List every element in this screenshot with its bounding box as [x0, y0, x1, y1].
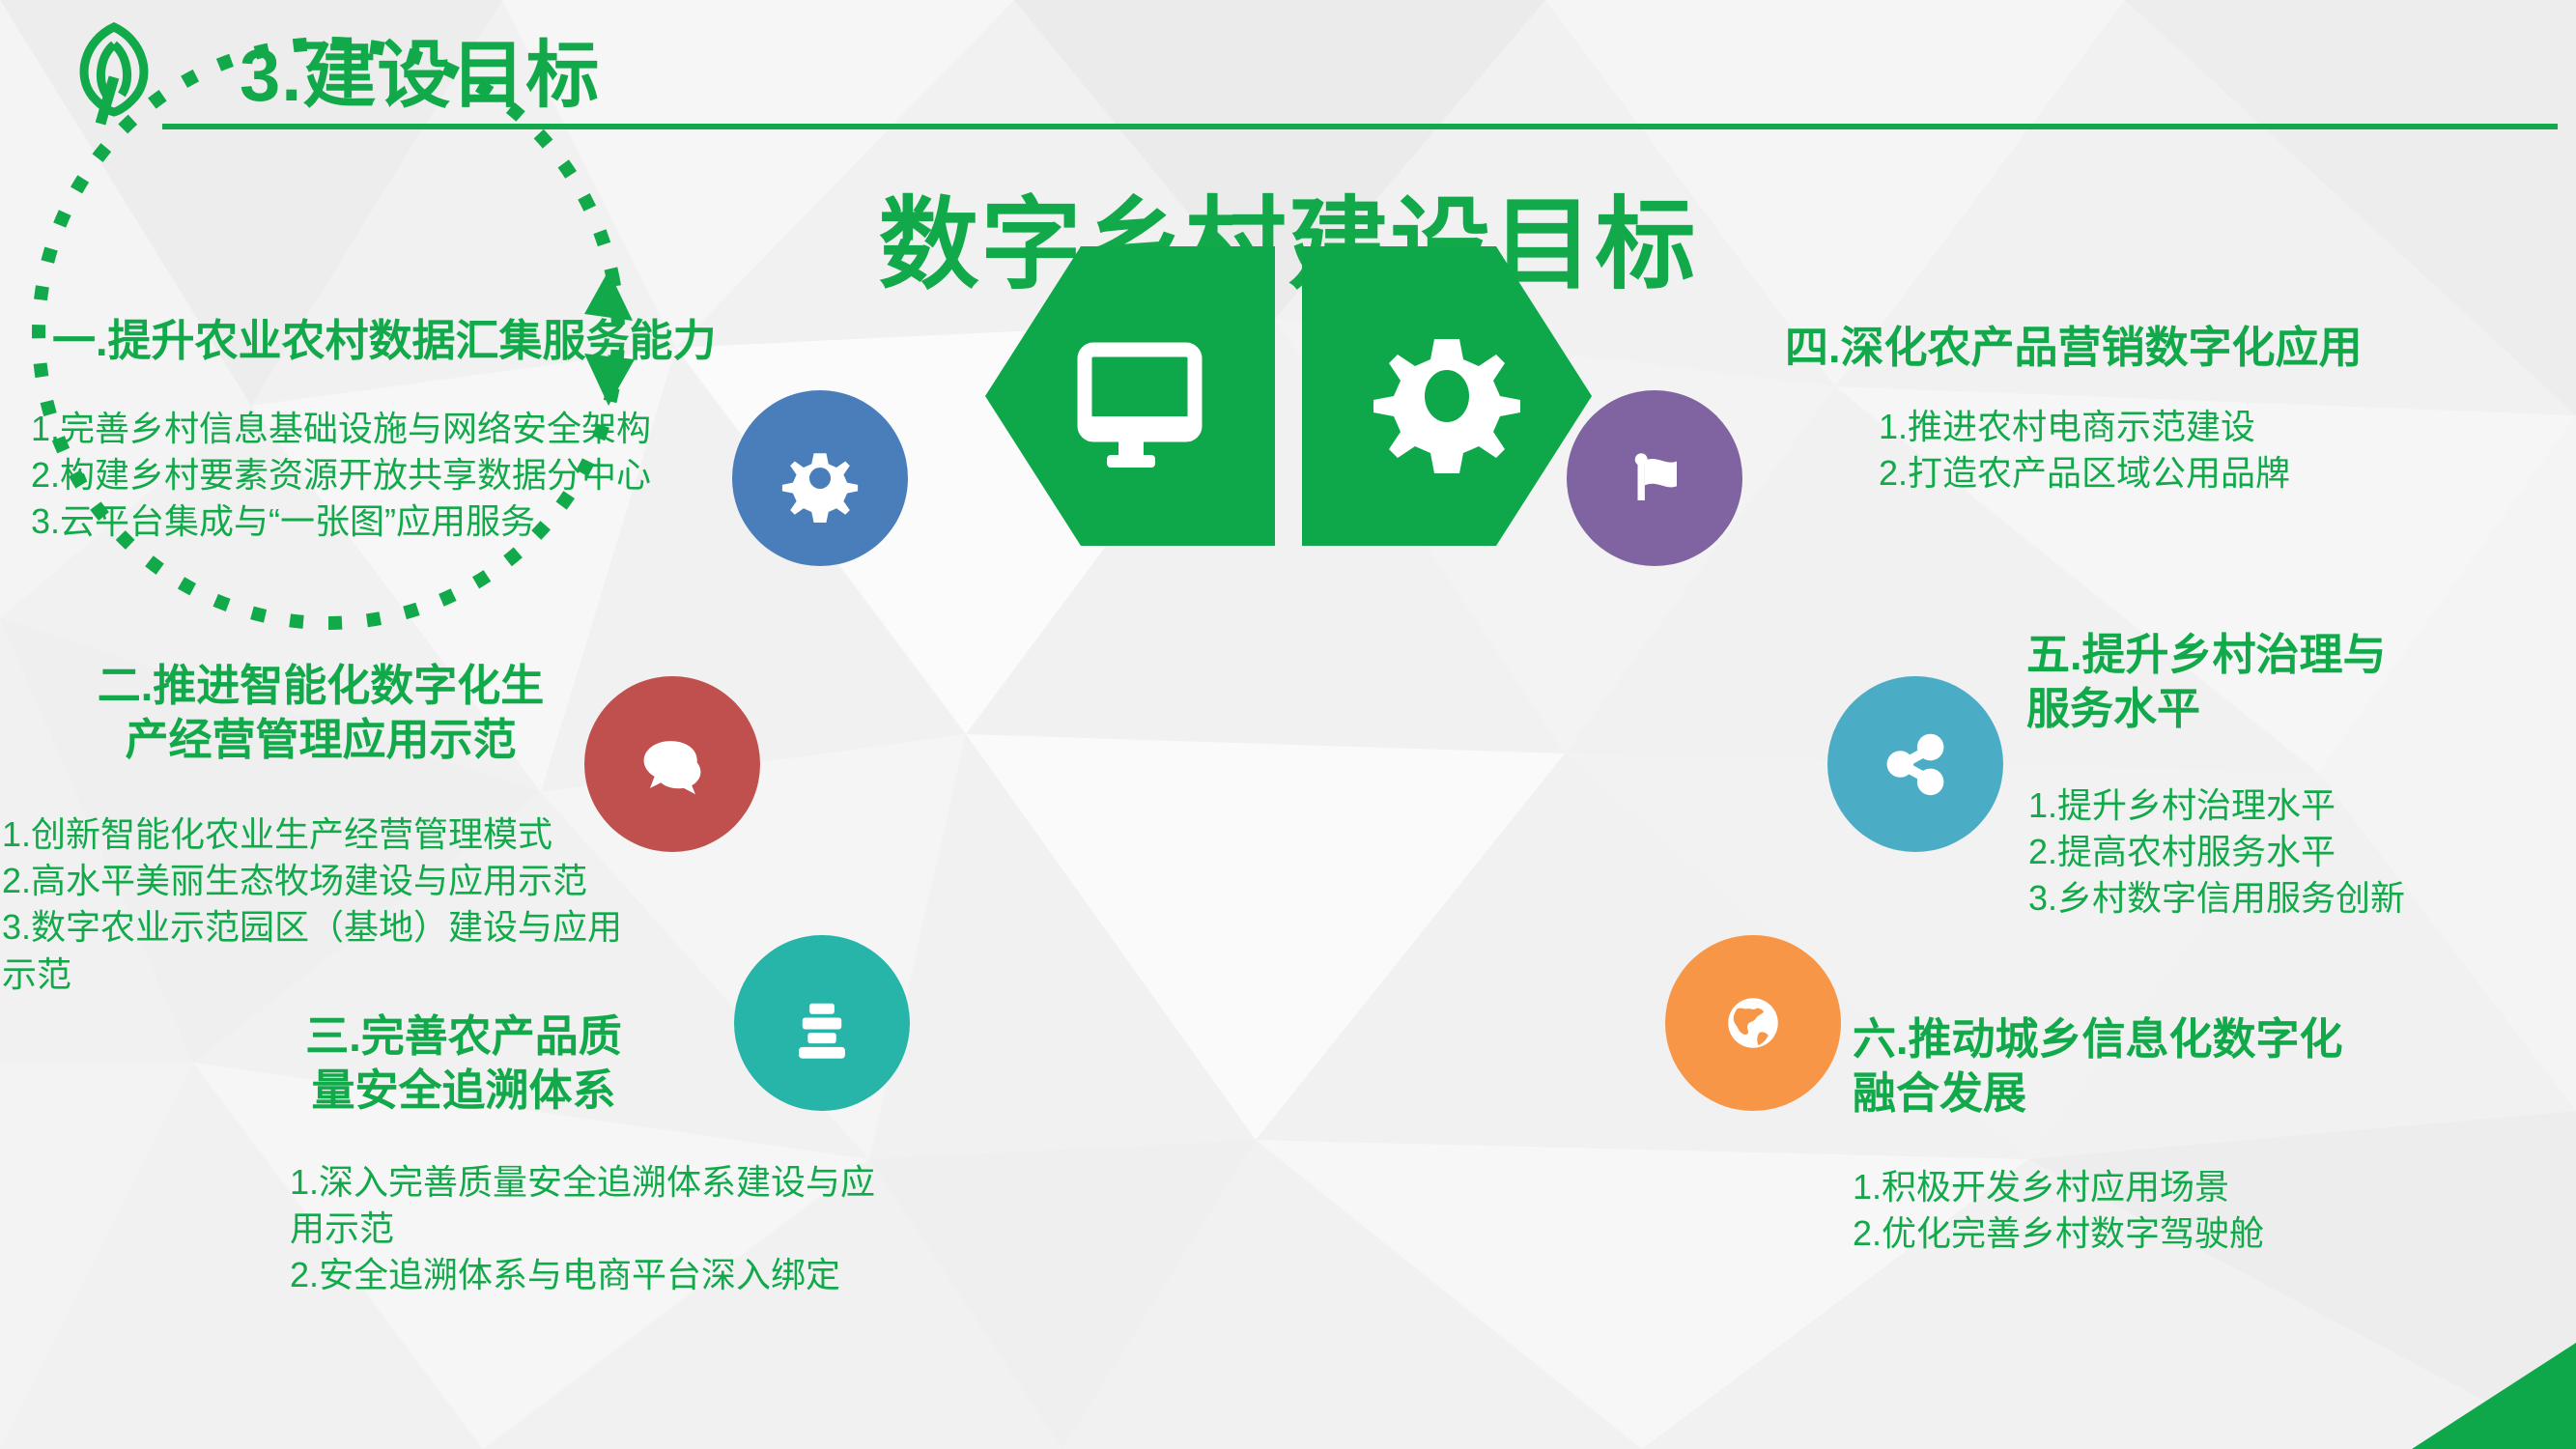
node-circle-five[interactable] — [1827, 676, 2003, 852]
align-center-icon — [778, 979, 866, 1067]
list-item: 2.构建乡村要素资源开放共享数据分中心 — [31, 452, 651, 498]
node-circle-four[interactable] — [1567, 390, 1742, 566]
list-item: 1.积极开发乡村应用场景 — [1853, 1164, 2264, 1210]
section-six-list: 1.积极开发乡村应用场景 2.优化完善乡村数字驾驶舱 — [1853, 1164, 2264, 1257]
share-icon — [1871, 720, 1960, 809]
section-three-title: 三.完善农产品质 量安全追溯体系 — [222, 1009, 705, 1118]
section-two-list: 1.创新智能化农业生产经营管理模式 2.高水平美丽生态牧场建设与应用示范 3.数… — [2, 811, 659, 998]
section-five-list: 1.提升乡村治理水平 2.提高农村服务水平 3.乡村数字信用服务创新 — [2028, 782, 2405, 923]
list-item: 3.数字农业示范园区（基地）建设与应用示范 — [2, 904, 639, 997]
section-one-title: 一.提升农业农村数据汇集服务能力 — [52, 314, 717, 368]
list-item: 2.打造农产品区域公用品牌 — [1879, 450, 2290, 497]
section-five-title: 五.提升乡村治理与 服务水平 — [2026, 628, 2387, 736]
list-item: 1.创新智能化农业生产经营管理模式 — [2, 811, 659, 858]
list-item: 2.高水平美丽生态牧场建设与应用示范 — [2, 858, 659, 904]
list-item: 1.完善乡村信息基础设施与网络安全架构 — [31, 406, 651, 452]
node-circle-three[interactable] — [734, 935, 910, 1111]
list-item: 3.乡村数字信用服务创新 — [2028, 875, 2405, 922]
section-four-list: 1.推进农村电商示范建设 2.打造农产品区域公用品牌 — [1879, 404, 2290, 497]
list-item: 1.推进农村电商示范建设 — [1879, 404, 2290, 450]
section-four-title: 四.深化农产品营销数字化应用 — [1785, 321, 2363, 375]
list-item: 2.安全追溯体系与电商平台深入绑定 — [290, 1252, 898, 1298]
list-item: 1.深入完善质量安全追溯体系建设与应用示范 — [290, 1159, 889, 1252]
flag-icon — [1610, 434, 1699, 523]
section-six-title: 六.推动城乡信息化数字化 融合发展 — [1853, 1012, 2343, 1121]
chat-bubbles-icon — [628, 720, 717, 809]
corner-triangle-decoration — [2354, 1343, 2576, 1449]
node-circle-six[interactable] — [1665, 935, 1841, 1111]
slide-canvas: 3.建设目标 数字乡村建设目标 — [0, 0, 2576, 1449]
section-one-list: 1.完善乡村信息基础设施与网络安全架构 2.构建乡村要素资源开放共享数据分中心 … — [31, 406, 651, 546]
globe-icon — [1709, 979, 1798, 1067]
list-item: 2.提高农村服务水平 — [2028, 829, 2405, 875]
section-two-title: 二.推进智能化数字化生 产经营管理应用示范 — [21, 659, 620, 767]
list-item: 3.云平台集成与“一张图”应用服务 — [31, 498, 651, 545]
gear-icon — [776, 434, 864, 523]
list-item: 2.优化完善乡村数字驾驶舱 — [1853, 1210, 2264, 1257]
section-three-list: 1.深入完善质量安全追溯体系建设与应用示范 2.安全追溯体系与电商平台深入绑定 — [290, 1159, 898, 1299]
node-circle-one[interactable] — [732, 390, 908, 566]
list-item: 1.提升乡村治理水平 — [2028, 782, 2405, 829]
